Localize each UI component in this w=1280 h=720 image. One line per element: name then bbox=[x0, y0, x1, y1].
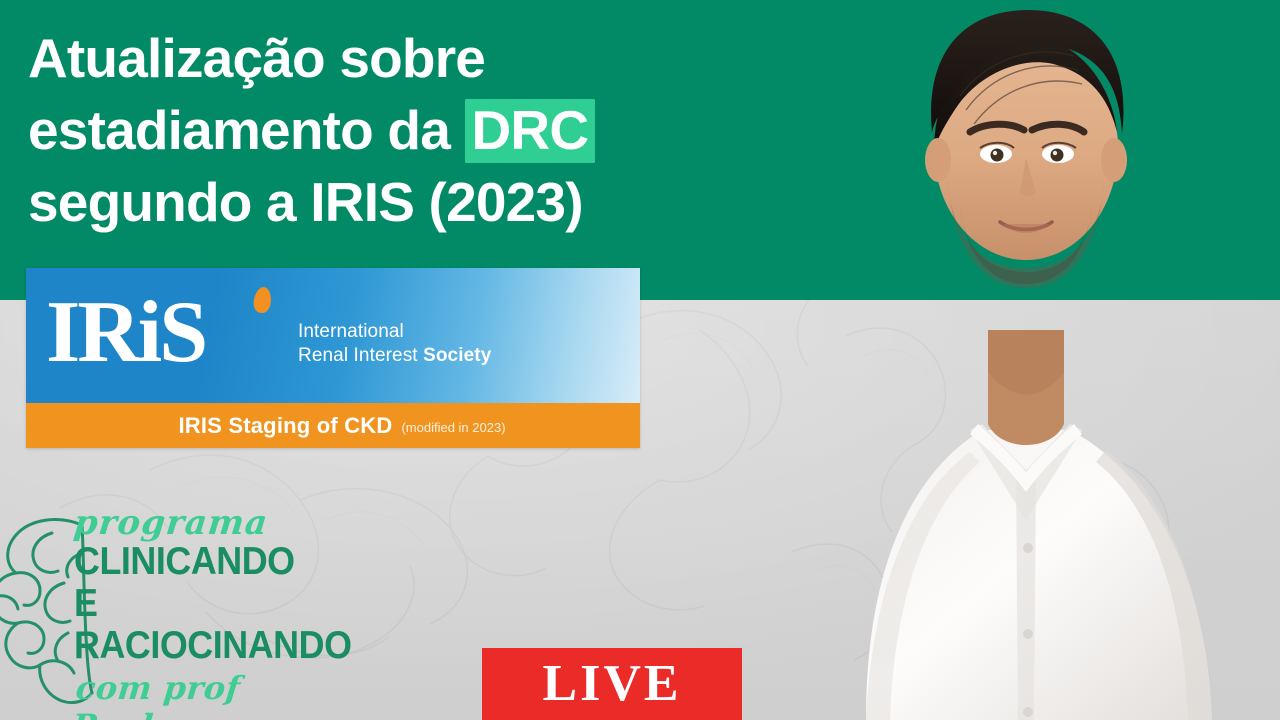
video-thumbnail: Atualização sobre estadiamento da DRC se… bbox=[0, 0, 1280, 720]
live-badge: LIVE bbox=[482, 648, 742, 720]
iris-subtitle: International Renal Interest Society bbox=[298, 320, 491, 368]
title-line-2: estadiamento da DRC bbox=[28, 94, 788, 166]
title-line-3: segundo a IRIS (2023) bbox=[28, 166, 788, 238]
brand-line-1: CLINICANDO E bbox=[74, 541, 304, 625]
program-brand-logo: programa CLINICANDO E RACIOCINANDO com p… bbox=[0, 505, 336, 720]
page-title: Atualização sobre estadiamento da DRC se… bbox=[28, 22, 788, 238]
iris-staging-modifier: (modified in 2023) bbox=[401, 420, 505, 435]
iris-staging-text: IRIS Staging of CKD(modified in 2023) bbox=[26, 413, 640, 439]
title-line-2-prefix: estadiamento da bbox=[28, 99, 465, 161]
iris-wordmark: IRiS bbox=[46, 274, 205, 392]
iris-subtitle-regular: Renal Interest bbox=[298, 345, 423, 366]
iris-logo-banner: IRiS International Renal Interest Societ… bbox=[26, 268, 640, 403]
iris-subtitle-line-1: International bbox=[298, 320, 491, 344]
iris-staging-main: IRIS Staging of CKD bbox=[178, 413, 392, 438]
title-highlight-drc: DRC bbox=[465, 99, 596, 163]
live-label: LIVE bbox=[542, 656, 681, 712]
brand-prof-label: com prof Paulo bbox=[70, 669, 328, 720]
iris-subtitle-line-2: Renal Interest Society bbox=[298, 344, 491, 368]
iris-subtitle-bold: Society bbox=[423, 345, 491, 366]
brand-programa-label: programa bbox=[72, 505, 326, 541]
title-line-1: Atualização sobre bbox=[28, 22, 788, 94]
brand-text-block: programa CLINICANDO E RACIOCINANDO com p… bbox=[74, 505, 324, 720]
brand-line-2: RACIOCINANDO bbox=[74, 625, 304, 667]
presenter-photo bbox=[820, 0, 1280, 720]
iris-logo-card: IRiS International Renal Interest Societ… bbox=[26, 268, 640, 448]
iris-staging-banner: IRIS Staging of CKD(modified in 2023) bbox=[26, 403, 640, 448]
iris-orange-dot-icon bbox=[252, 286, 272, 314]
